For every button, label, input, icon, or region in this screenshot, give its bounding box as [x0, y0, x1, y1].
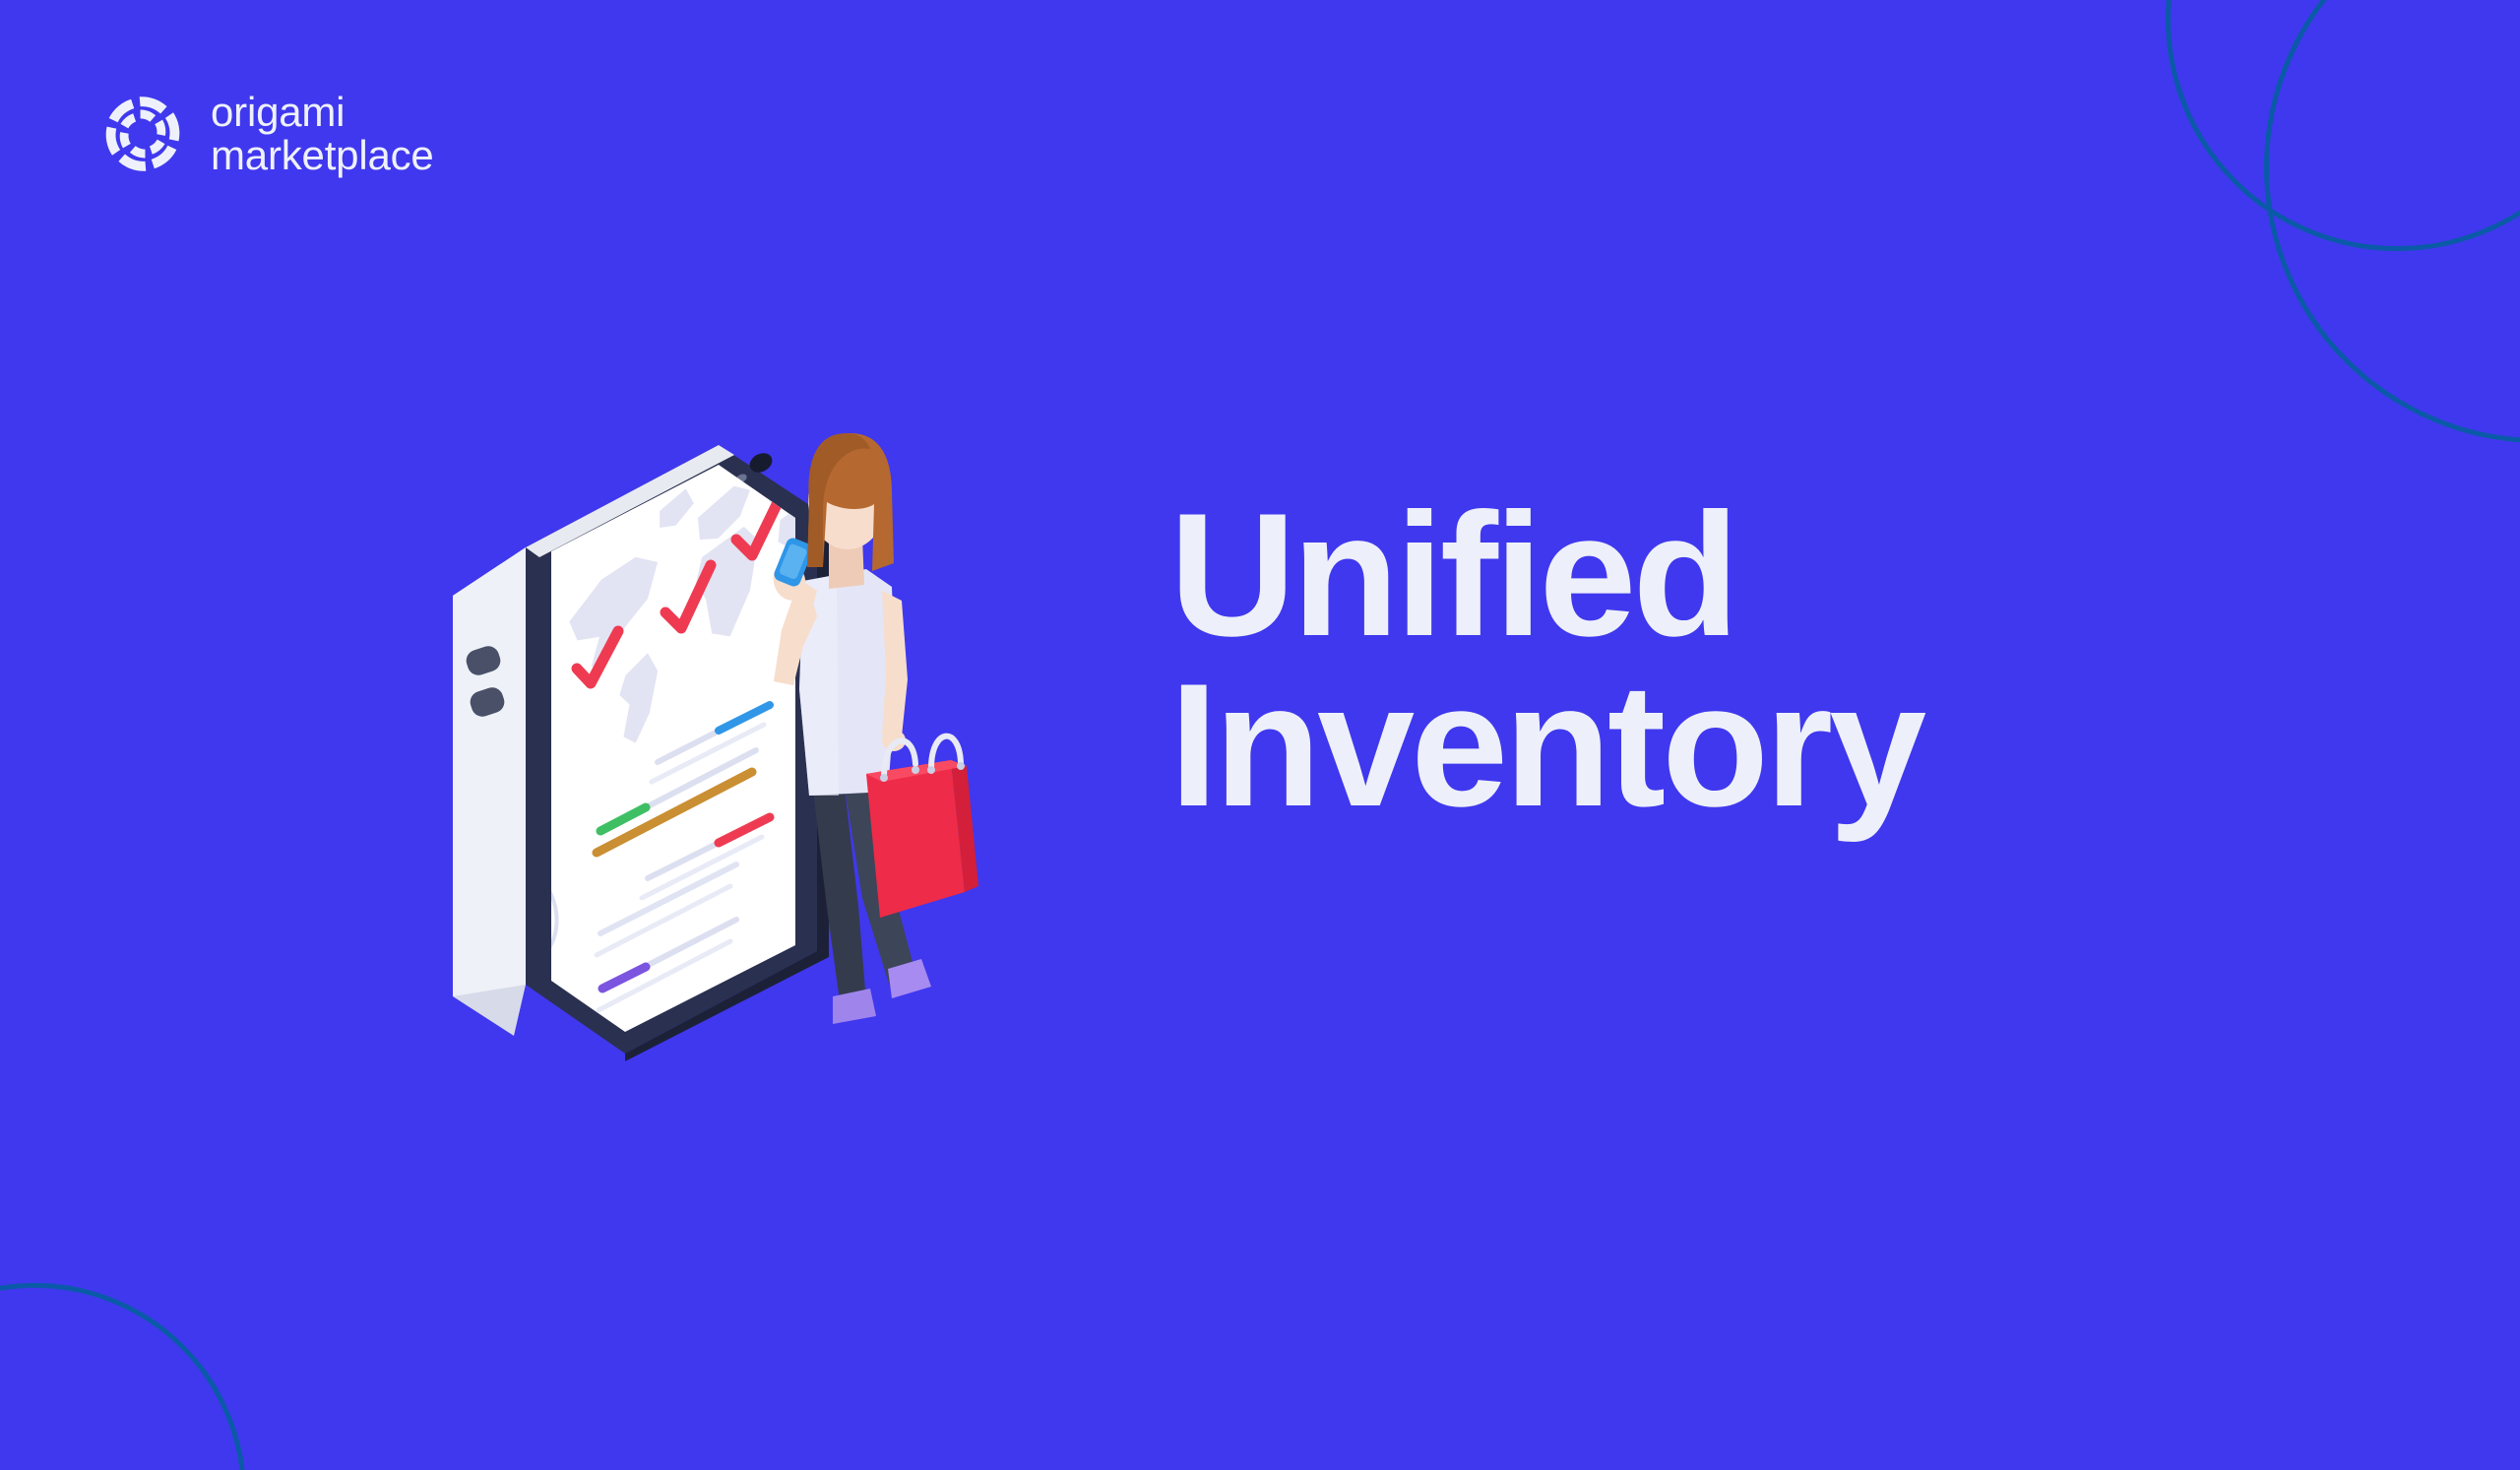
shopper-with-tablet-illustration — [423, 394, 1034, 1083]
bag-eyelet-3 — [927, 766, 935, 774]
illustration-canvas — [423, 394, 1034, 1083]
ring-top-right-b — [2264, 0, 2520, 443]
isometric-tablet — [453, 395, 863, 1061]
promo-slide: origami marketplace Unified Inventory — [0, 0, 2520, 1470]
person-arm-right — [882, 591, 908, 736]
shopping-bag[interactable] — [866, 736, 978, 918]
tablet-left-face — [453, 547, 526, 996]
headline-line-1: Unified — [1169, 490, 1922, 661]
brand-name-line1: origami — [211, 91, 434, 134]
brand-wordmark: origami marketplace — [211, 91, 434, 177]
brand-logo[interactable]: origami marketplace — [102, 91, 434, 177]
shopping-bag-front — [866, 760, 965, 918]
page-title: Unified Inventory — [1169, 490, 1922, 830]
headline-line-2: Inventory — [1169, 661, 1922, 831]
bag-eyelet-4 — [957, 762, 965, 770]
ring-bottom-left — [0, 1283, 246, 1470]
bag-eyelet-1 — [880, 774, 888, 782]
bag-eyelet-2 — [912, 766, 919, 774]
origami-pinwheel-icon — [102, 94, 183, 174]
ring-top-right-a — [2166, 0, 2520, 251]
brand-name-line2: marketplace — [211, 134, 434, 177]
